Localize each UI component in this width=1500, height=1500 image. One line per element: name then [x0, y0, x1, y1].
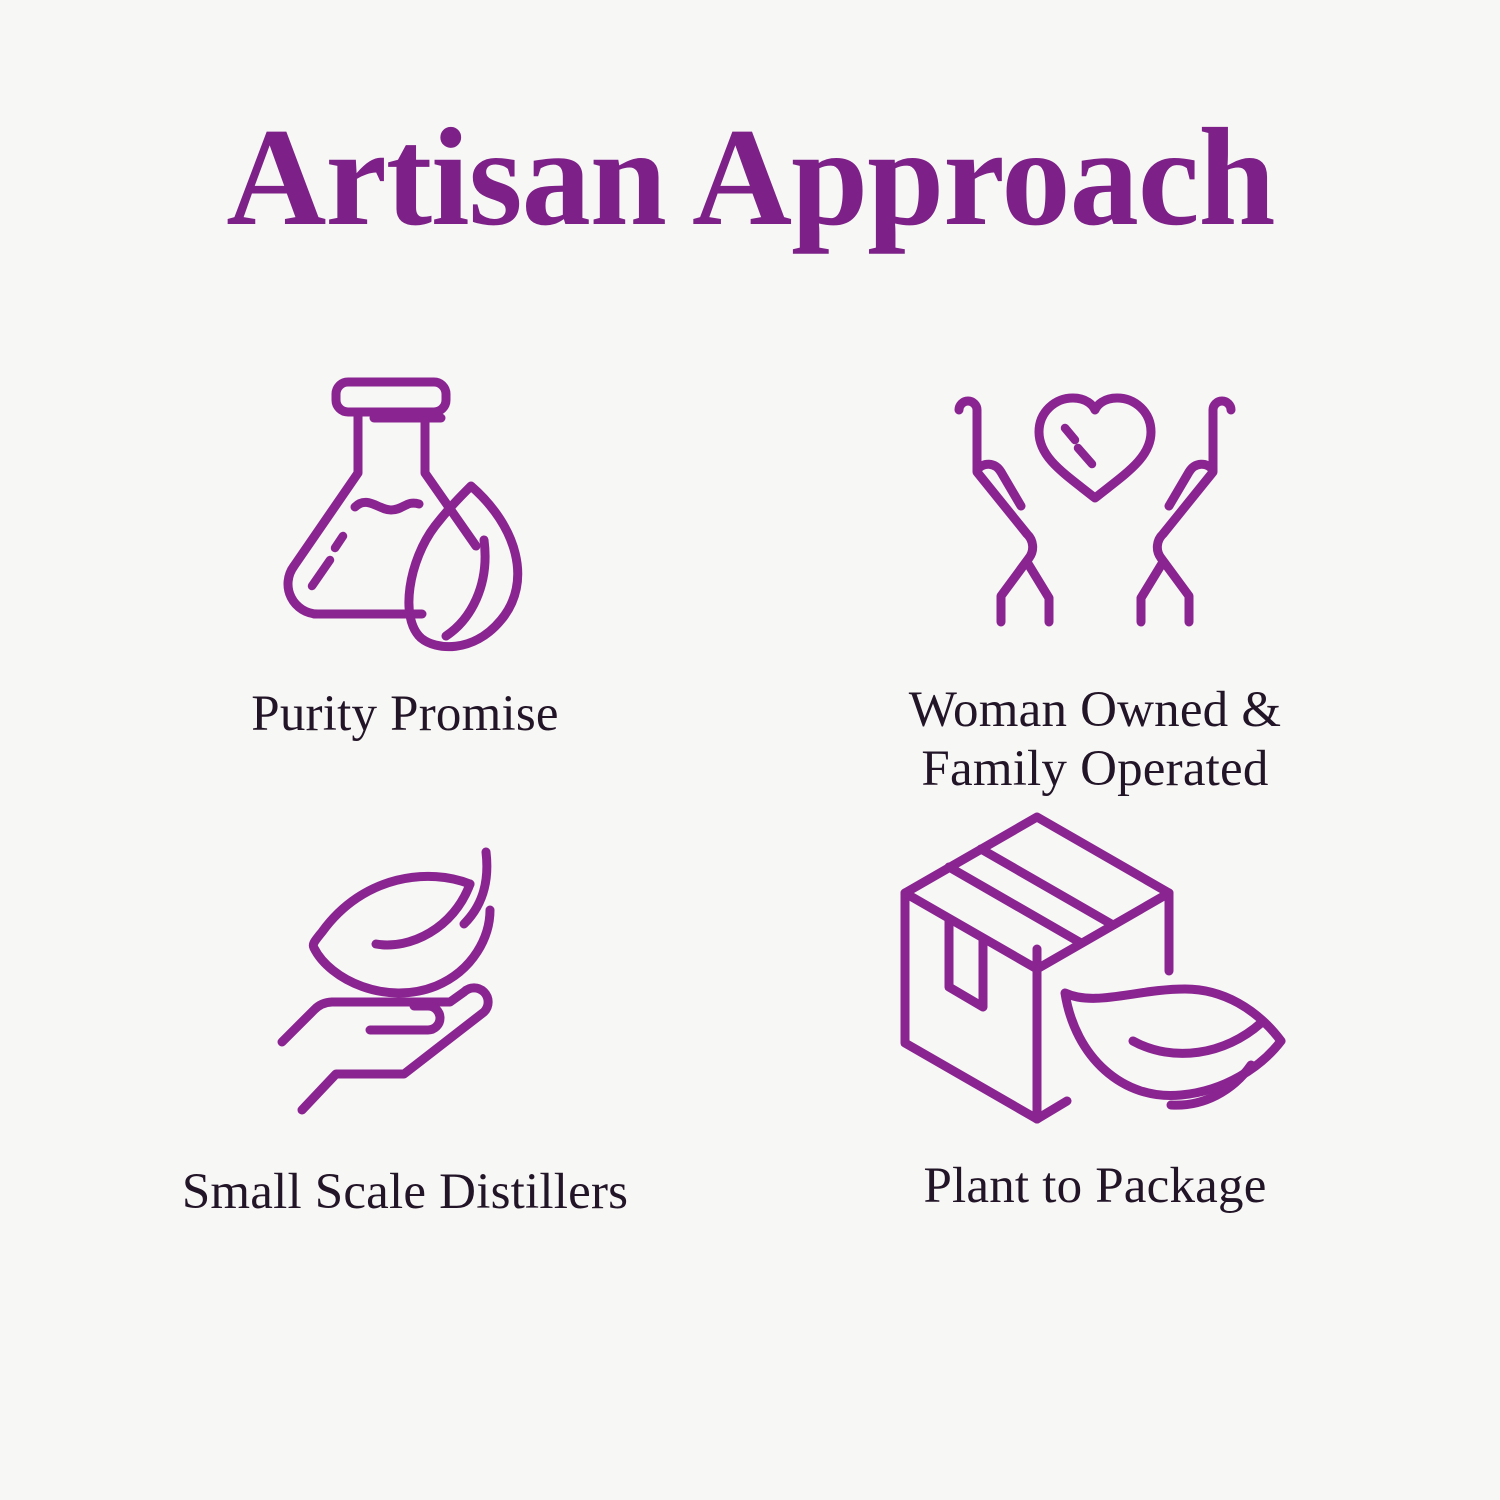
feature-item-woman-owned: Woman Owned & Family Operated — [750, 355, 1440, 825]
feature-label: Plant to Package — [923, 1157, 1266, 1216]
feature-item-small-scale-distillers: Small Scale Distillers — [60, 825, 750, 1295]
feature-label: Woman Owned & Family Operated — [909, 681, 1281, 798]
feature-grid: Purity Promise — [60, 355, 1440, 1415]
flask-leaf-icon — [270, 355, 540, 655]
page-title-container: Artisan Approach — [0, 108, 1500, 248]
feature-item-plant-to-package: Plant to Package — [750, 825, 1440, 1295]
box-leaf-icon — [885, 825, 1305, 1125]
feature-label: Small Scale Distillers — [182, 1163, 628, 1222]
hands-heart-icon — [935, 355, 1255, 655]
feature-label: Purity Promise — [251, 685, 558, 744]
hand-leaf-icon — [280, 825, 530, 1125]
feature-item-purity-promise: Purity Promise — [60, 355, 750, 825]
page-title: Artisan Approach — [226, 108, 1274, 248]
artisan-approach-panel: Artisan Approach — [0, 0, 1500, 1500]
